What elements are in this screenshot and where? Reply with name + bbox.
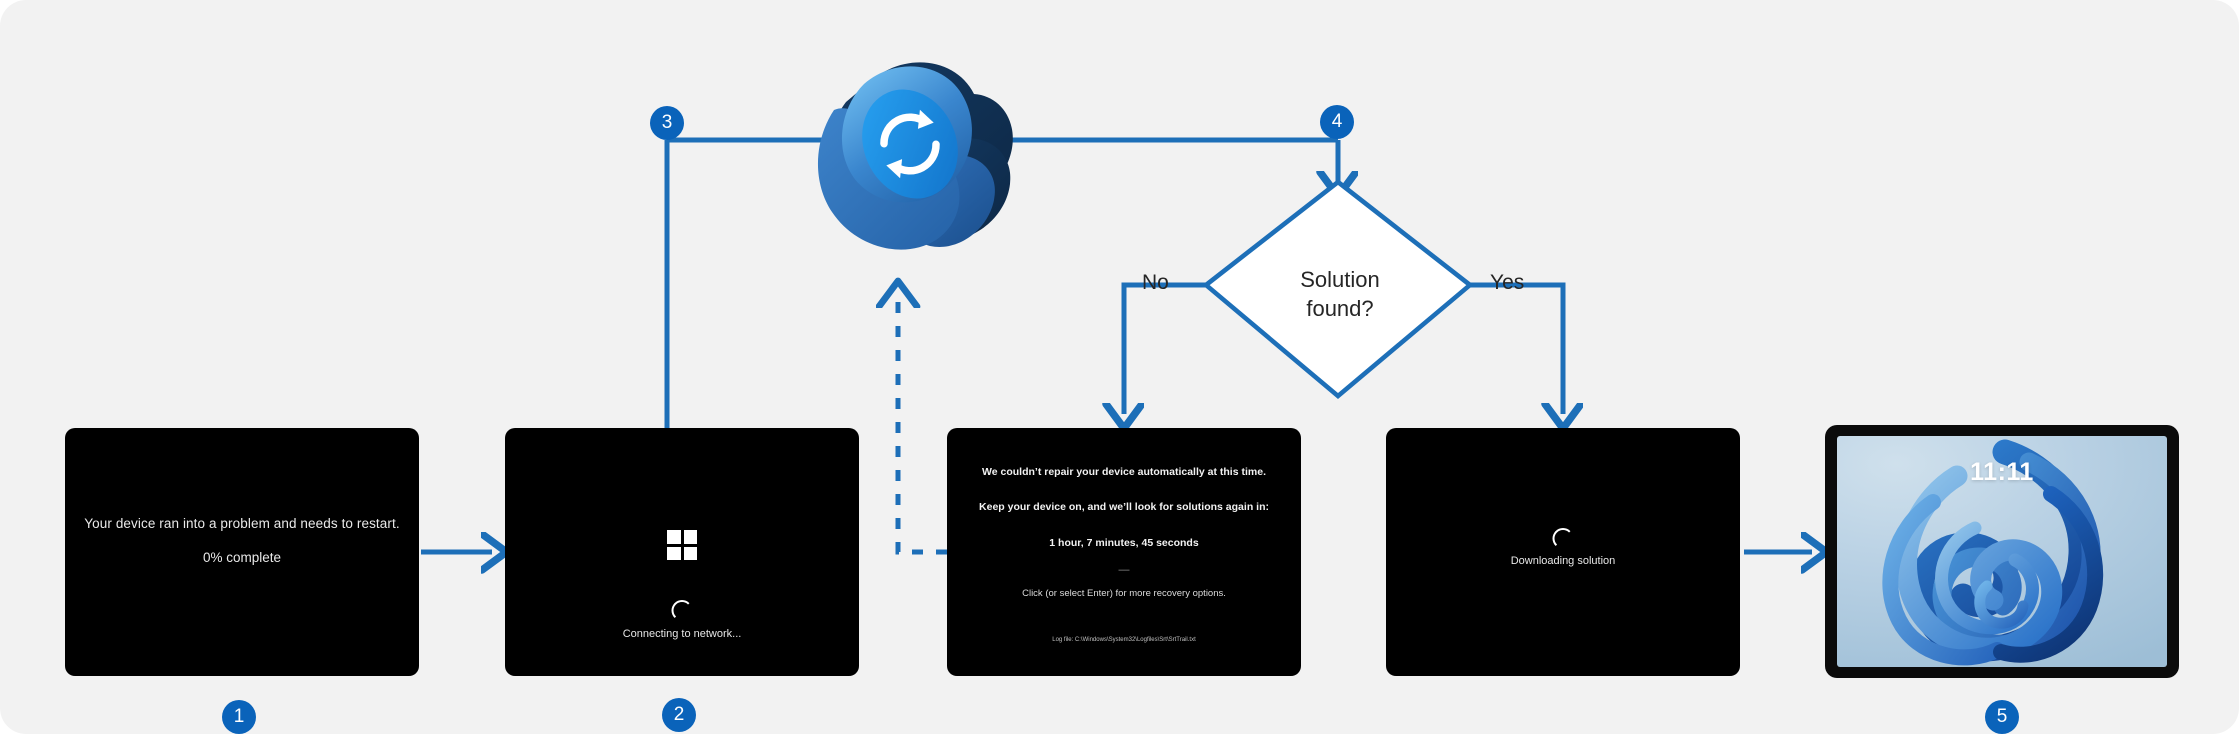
cloud-sync-icon [760, 36, 1030, 301]
step-badge-5: 5 [1985, 700, 2019, 734]
downloading-screen: Downloading solution [1386, 428, 1740, 676]
decision-label-line1: Solution [1240, 265, 1440, 294]
branch-label-yes: Yes [1490, 271, 1524, 295]
crash-progress: 0% complete [65, 550, 419, 565]
boot-screen: Connecting to network... [505, 428, 859, 676]
log-file-path: Log file: C:\Windows\System32\Logfiles\S… [947, 637, 1301, 643]
loading-spinner-icon [1553, 528, 1574, 549]
repair-countdown: 1 hour, 7 minutes, 45 seconds [947, 537, 1301, 549]
step-badge-2: 2 [662, 698, 696, 732]
step-badge-4: 4 [1320, 105, 1354, 139]
repair-divider: — [947, 564, 1301, 576]
wire-no-branch [1124, 285, 1206, 414]
repair-failed-message: We couldn’t repair your device automatic… [947, 466, 1301, 478]
boot-caption: Connecting to network... [505, 628, 859, 640]
loading-spinner-icon [672, 600, 693, 621]
decision-label-line2: found? [1240, 294, 1440, 323]
monitor-bezel: 11:11 [1825, 425, 2179, 678]
windows-desktop-screen: 11:11 [1837, 436, 2167, 667]
wire-retry-dashed [898, 296, 947, 552]
flow-diagram: 1 2 3 4 5 Solution found? No Yes Your de… [0, 0, 2239, 734]
crash-message: Your device ran into a problem and needs… [65, 516, 419, 531]
repair-failed-screen: We couldn’t repair your device automatic… [947, 428, 1301, 676]
recovery-options-hint[interactable]: Click (or select Enter) for more recover… [947, 588, 1301, 599]
repair-retry-message: Keep your device on, and we’ll look for … [947, 501, 1301, 513]
windows-logo-icon [667, 530, 697, 560]
crash-screen: Your device ran into a problem and needs… [65, 428, 419, 676]
decision-label: Solution found? [1240, 265, 1440, 323]
step-badge-3: 3 [650, 106, 684, 140]
lockscreen-clock: 11:11 [1837, 458, 2167, 487]
step-badge-1: 1 [222, 700, 256, 734]
downloading-caption: Downloading solution [1386, 555, 1740, 567]
wire-yes-branch [1470, 285, 1563, 414]
cloud-refresh-icon [760, 36, 1030, 301]
branch-label-no: No [1142, 271, 1169, 295]
